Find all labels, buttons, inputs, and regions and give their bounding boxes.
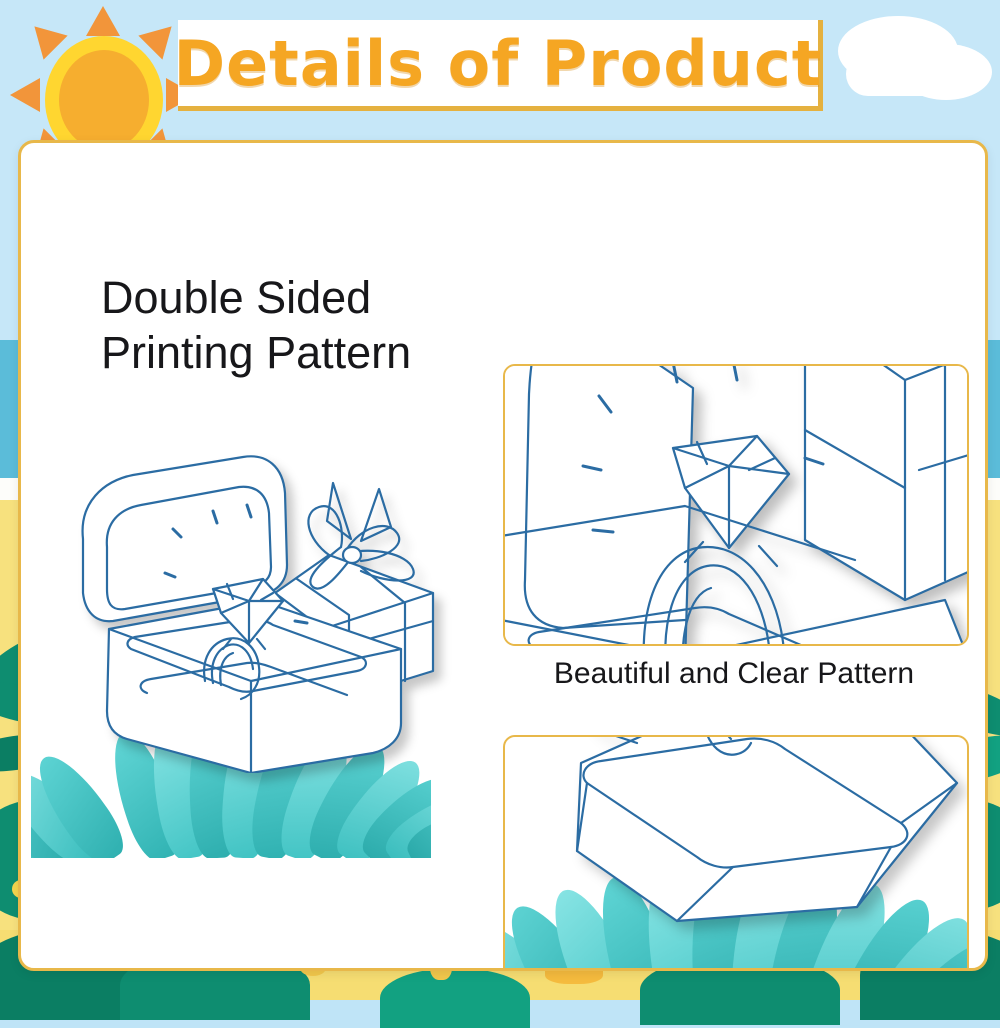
- page-title: Details of Product: [174, 27, 823, 100]
- leaf-icon: [380, 968, 530, 1028]
- title-banner: Details of Product: [178, 20, 823, 111]
- lead-heading-line1: Double Sided: [101, 271, 501, 326]
- panel-pattern[interactable]: [503, 364, 969, 646]
- caption-pattern: Beautiful and Clear Pattern: [503, 657, 965, 691]
- panel-honeycomb[interactable]: [503, 735, 969, 971]
- ringbox-bottom-lineart: [557, 735, 969, 971]
- closeup-ring-box-diamond-lineart: [503, 364, 969, 646]
- content-card: Double Sided Printing Pattern: [18, 140, 988, 971]
- ring-box-with-gift-illustration: [61, 443, 461, 773]
- cloud-icon: [846, 52, 986, 96]
- lead-heading-line2: Printing Pattern: [101, 326, 501, 381]
- lead-heading: Double Sided Printing Pattern: [101, 271, 501, 381]
